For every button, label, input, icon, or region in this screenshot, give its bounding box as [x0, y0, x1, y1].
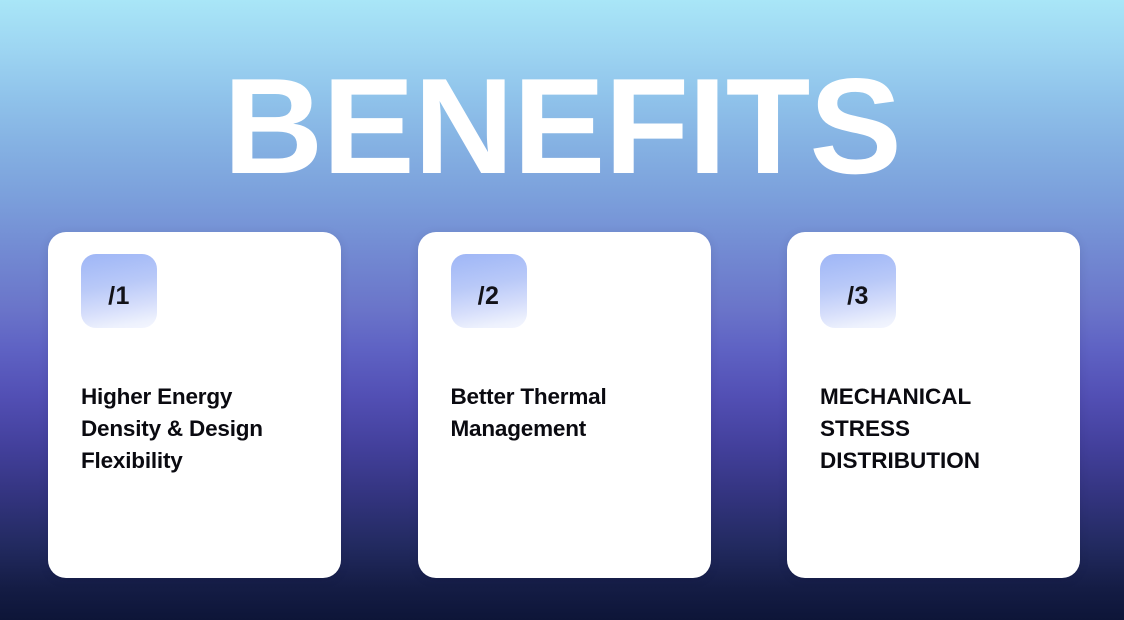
benefit-card-3[interactable]: /3 MECHANICAL STRESS DISTRIBUTION [787, 232, 1080, 578]
benefit-number-label: /3 [847, 284, 869, 328]
benefit-number-badge-1: /1 [81, 254, 157, 328]
benefit-card-2[interactable]: /2 Better Thermal Management [418, 232, 711, 578]
benefit-number-badge-3: /3 [820, 254, 896, 328]
benefit-title-2: Better Thermal Management [451, 381, 683, 445]
benefit-title-3: MECHANICAL STRESS DISTRIBUTION [820, 381, 1052, 477]
benefit-title-1: Higher Energy Density & Design Flexibili… [81, 381, 313, 477]
benefit-number-badge-2: /2 [451, 254, 527, 328]
benefits-card-row: /1 Higher Energy Density & Design Flexib… [48, 232, 1080, 578]
slide-canvas: BENEFITS /1 Higher Energy Density & Desi… [0, 0, 1124, 620]
benefit-number-label: /2 [478, 284, 500, 328]
benefit-number-label: /1 [108, 284, 130, 328]
benefit-card-1[interactable]: /1 Higher Energy Density & Design Flexib… [48, 232, 341, 578]
page-title: BENEFITS [0, 58, 1124, 194]
